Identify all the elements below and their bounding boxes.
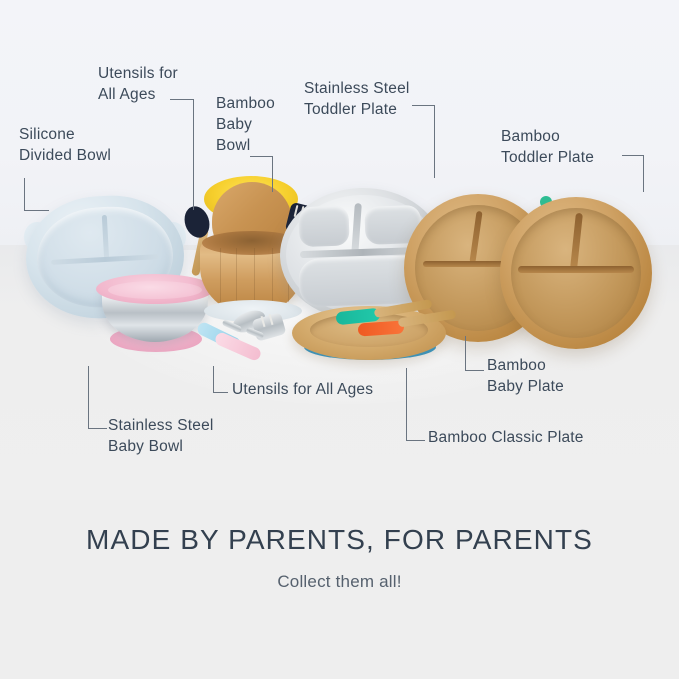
label-utensils-for-all-ages-bottom: Utensils for All Ages: [232, 379, 492, 400]
leader-bamboo-baby-plate: [465, 336, 484, 371]
bamboo-baby-plate-divider-vertical: [469, 211, 482, 263]
product-stainless-steel-baby-bowl: [96, 272, 214, 346]
silicone-bowl-divider-vertical: [101, 215, 108, 259]
bamboo-grain-line: [236, 248, 237, 302]
label-bamboo-baby-plate: Bamboo Baby Plate: [487, 355, 647, 397]
leader-stainless-steel-baby-bowl: [88, 366, 107, 429]
label-stainless-steel-baby-bowl: Stainless Steel Baby Bowl: [108, 415, 308, 457]
toddler-plate-well-top-left: [298, 205, 349, 247]
product-infographic: Silicone Divided Bowl Utensils for All A…: [0, 0, 679, 679]
leader-utensils-for-all-ages-bottom: [213, 366, 228, 393]
label-bamboo-classic-plate: Bamboo Classic Plate: [428, 427, 679, 448]
bamboo-toddler-plate-inner: [511, 208, 641, 338]
footer-headline: MADE BY PARENTS, FOR PARENTS: [0, 524, 679, 556]
leader-bamboo-toddler-plate: [622, 155, 644, 192]
bamboo-grain-line: [272, 248, 273, 302]
leader-silicone-divided-bowl: [24, 178, 49, 211]
label-silicone-divided-bowl: Silicone Divided Bowl: [19, 124, 189, 166]
bamboo-grain-line: [254, 248, 255, 302]
leader-bamboo-baby-bowl: [250, 156, 273, 192]
footer-subline: Collect them all!: [0, 572, 679, 592]
leader-stainless-steel-toddler-plate: [412, 105, 435, 178]
baby-bowl-lid-inner: [108, 281, 202, 299]
label-stainless-steel-toddler-plate: Stainless Steel Toddler Plate: [304, 78, 504, 120]
bamboo-grain-line: [220, 248, 221, 302]
leader-utensils-for-all-ages-top: [170, 99, 194, 210]
baby-bowl-pink-lid: [96, 274, 214, 304]
bamboo-toddler-plate-divider-horizontal: [518, 266, 634, 273]
label-bamboo-toddler-plate: Bamboo Toddler Plate: [501, 126, 679, 168]
product-bamboo-toddler-plate: [500, 197, 652, 349]
toddler-plate-divider-vertical: [351, 203, 361, 253]
bamboo-toddler-plate-divider-vertical: [570, 213, 583, 269]
